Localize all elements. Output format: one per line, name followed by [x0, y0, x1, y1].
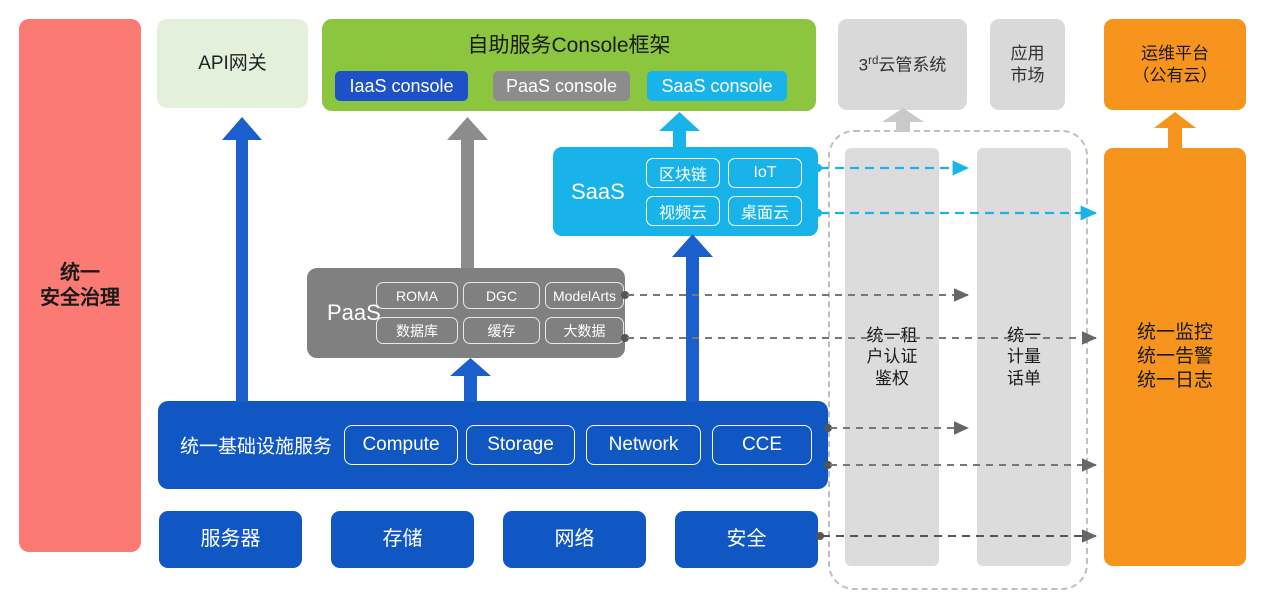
saas-chip-video-cloud-label: 视频云: [659, 199, 707, 223]
paas-chip-database[interactable]: 数据库: [376, 317, 458, 344]
unified-infrastructure-service-block: 统一基础设施服务 Compute Storage Network CCE: [158, 401, 828, 489]
resource-box-security-label: 安全: [727, 527, 767, 552]
self-service-console-frame: 自助服务Console框架 IaaS console PaaS console …: [322, 19, 816, 111]
app-market-box[interactable]: 应用 市场: [990, 19, 1065, 110]
saas-console-label: SaaS console: [661, 75, 772, 98]
api-gateway-box[interactable]: API网关: [157, 19, 308, 108]
paas-console-button[interactable]: PaaS console: [493, 71, 630, 101]
paas-chip-modelarts-label: ModelArts: [553, 288, 616, 304]
app-market-line2: 市场: [1011, 65, 1045, 86]
infra-chip-network[interactable]: Network: [586, 425, 701, 465]
billing-bar-line2: 计量: [1007, 346, 1041, 367]
ops-platform-public-cloud-box[interactable]: 运维平台 （公有云）: [1104, 19, 1246, 110]
paas-chip-bigdata[interactable]: 大数据: [545, 317, 624, 344]
resource-box-storage[interactable]: 存储: [331, 511, 474, 568]
saas-block: SaaS 区块链 IoT 视频云 桌面云: [553, 147, 818, 236]
saas-chip-iot[interactable]: IoT: [728, 158, 802, 188]
ops-panel-line3: 统一日志: [1137, 369, 1213, 393]
paas-block: PaaS ROMA DGC ModelArts 数据库 缓存 大数据: [307, 268, 625, 358]
arrow-infra-to-paas: [450, 358, 491, 402]
saas-chip-blockchain[interactable]: 区块链: [646, 158, 720, 188]
app-market-line1: 应用: [1011, 43, 1045, 64]
auth-bar-line2: 户认证: [867, 346, 918, 367]
arrow-infra-to-saas: [672, 234, 713, 402]
infra-chip-cce-label: CCE: [742, 434, 782, 456]
paas-block-label: PaaS: [327, 300, 381, 326]
arrow-infra-to-api-gateway: [222, 117, 262, 402]
paas-chip-roma[interactable]: ROMA: [376, 282, 458, 309]
saas-chip-blockchain-label: 区块链: [659, 161, 707, 185]
paas-chip-cache[interactable]: 缓存: [463, 317, 540, 344]
saas-chip-iot-label: IoT: [753, 164, 776, 182]
paas-chip-dgc-label: DGC: [486, 288, 517, 304]
paas-chip-cache-label: 缓存: [488, 321, 516, 341]
arrow-saas-to-console: [659, 112, 700, 148]
auth-bar-line1: 统一租: [867, 325, 918, 346]
resource-box-server[interactable]: 服务器: [159, 511, 302, 568]
ops-panel-line1: 统一监控: [1137, 321, 1213, 345]
resource-box-network[interactable]: 网络: [503, 511, 646, 568]
third-party-cloud-management-box[interactable]: 3rd云管系统: [838, 19, 967, 110]
architecture-diagram: 统一 安全治理 API网关 自助服务Console框架 IaaS console…: [0, 0, 1265, 605]
resource-box-server-label: 服务器: [201, 527, 261, 552]
security-panel-line1: 统一: [40, 261, 120, 286]
ops-panel-line2: 统一告警: [1137, 345, 1213, 369]
billing-bar-line3: 话单: [1007, 368, 1041, 389]
saas-chip-desktop-cloud-label: 桌面云: [741, 199, 789, 223]
iaas-console-button[interactable]: IaaS console: [335, 71, 468, 101]
arrow-paas-to-console: [447, 117, 488, 268]
paas-chip-database-label: 数据库: [396, 321, 438, 341]
third-party-label: 云管系统: [878, 55, 946, 74]
arrow-platform-to-third-party: [882, 108, 924, 132]
console-frame-title: 自助服务Console框架: [322, 33, 816, 59]
infra-chip-storage-label: Storage: [487, 434, 554, 456]
third-party-sup: rd: [868, 55, 878, 67]
infra-chip-compute-label: Compute: [362, 434, 439, 456]
security-governance-panel: 统一 安全治理: [19, 19, 141, 552]
saas-chip-video-cloud[interactable]: 视频云: [646, 196, 720, 226]
saas-block-label: SaaS: [571, 179, 625, 205]
unified-metering-billing-bar: 统一 计量 话单: [977, 148, 1071, 566]
iaas-console-label: IaaS console: [349, 75, 453, 98]
paas-chip-modelarts[interactable]: ModelArts: [545, 282, 624, 309]
ops-platform-line2: （公有云）: [1133, 65, 1218, 86]
resource-box-security[interactable]: 安全: [675, 511, 818, 568]
arrow-ops-panel-to-ops-platform: [1154, 112, 1196, 148]
unified-ops-panel: 统一监控 统一告警 统一日志: [1104, 148, 1246, 566]
paas-chip-dgc[interactable]: DGC: [463, 282, 540, 309]
auth-bar-line3: 鉴权: [875, 368, 909, 389]
infra-chip-network-label: Network: [609, 434, 679, 456]
infra-chip-cce[interactable]: CCE: [712, 425, 812, 465]
unified-tenant-auth-bar: 统一租 户认证 鉴权: [845, 148, 939, 566]
resource-box-network-label: 网络: [555, 527, 595, 552]
paas-console-label: PaaS console: [506, 75, 617, 98]
security-panel-line2: 安全治理: [40, 286, 120, 311]
third-party-prefix: 3: [859, 55, 868, 74]
infra-block-label: 统一基础设施服务: [180, 432, 332, 459]
billing-bar-line1: 统一: [1007, 325, 1041, 346]
paas-chip-roma-label: ROMA: [396, 288, 438, 304]
ops-platform-line1: 运维平台: [1133, 43, 1218, 64]
resource-box-storage-label: 存储: [383, 527, 423, 552]
api-gateway-label: API网关: [198, 52, 267, 76]
infra-chip-storage[interactable]: Storage: [466, 425, 575, 465]
paas-chip-bigdata-label: 大数据: [564, 321, 606, 341]
saas-chip-desktop-cloud[interactable]: 桌面云: [728, 196, 802, 226]
infra-chip-compute[interactable]: Compute: [344, 425, 458, 465]
saas-console-button[interactable]: SaaS console: [647, 71, 787, 101]
